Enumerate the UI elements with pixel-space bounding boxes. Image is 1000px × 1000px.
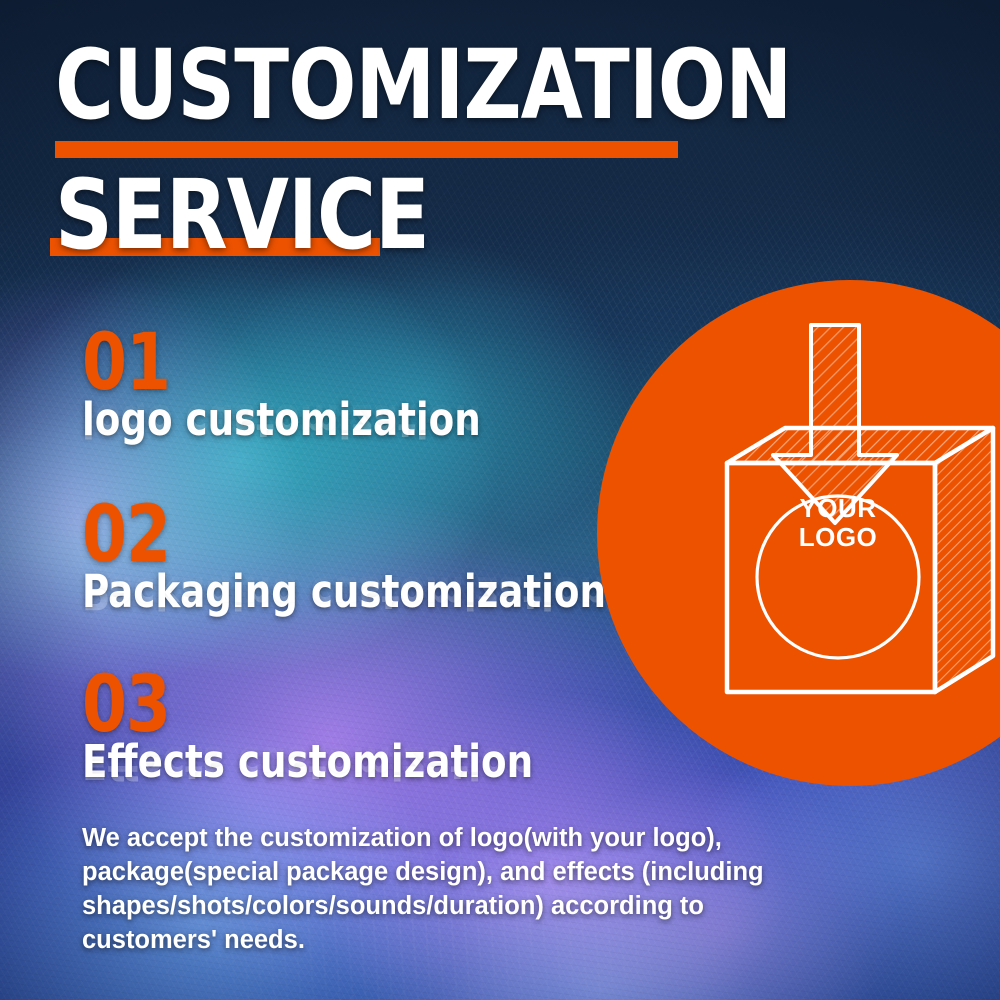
package-graphic: YOUR LOGO — [597, 280, 1000, 786]
service-item-03: 03 Effects customizationEffects customiz… — [82, 672, 572, 785]
service-item-number: 02 — [82, 502, 606, 569]
service-item-02: 02 Packaging customizationPackaging cust… — [82, 502, 652, 615]
service-item-label-reflection: logo customization — [82, 397, 481, 443]
headline-underline-bar-1 — [55, 141, 678, 158]
service-item-01: 01 logo customizationlogo customization — [82, 330, 515, 443]
your-logo-placeholder: YOUR LOGO — [763, 494, 913, 552]
service-item-number: 01 — [82, 330, 481, 397]
description-paragraph: We accept the customization of logo(with… — [82, 822, 842, 958]
headline-block: CUSTOMIZATION SERVICE — [55, 45, 755, 126]
service-item-label: Packaging customizationPackaging customi… — [82, 569, 606, 615]
service-item-label-reflection: Packaging customization — [82, 569, 606, 615]
service-item-number: 03 — [82, 672, 533, 739]
headline-line-1: CUSTOMIZATION — [55, 45, 706, 126]
service-item-label: Effects customizationEffects customizati… — [82, 739, 533, 785]
your-logo-line-2: LOGO — [763, 523, 913, 552]
headline-line-2: SERVICE — [55, 175, 429, 256]
your-logo-line-1: YOUR — [763, 494, 913, 523]
service-item-label-reflection: Effects customization — [82, 739, 533, 785]
headline-line-2-wrap: SERVICE — [55, 175, 457, 256]
service-item-label: logo customizationlogo customization — [82, 397, 481, 443]
customization-service-poster: CUSTOMIZATION SERVICE 01 logo customizat… — [0, 0, 1000, 1000]
